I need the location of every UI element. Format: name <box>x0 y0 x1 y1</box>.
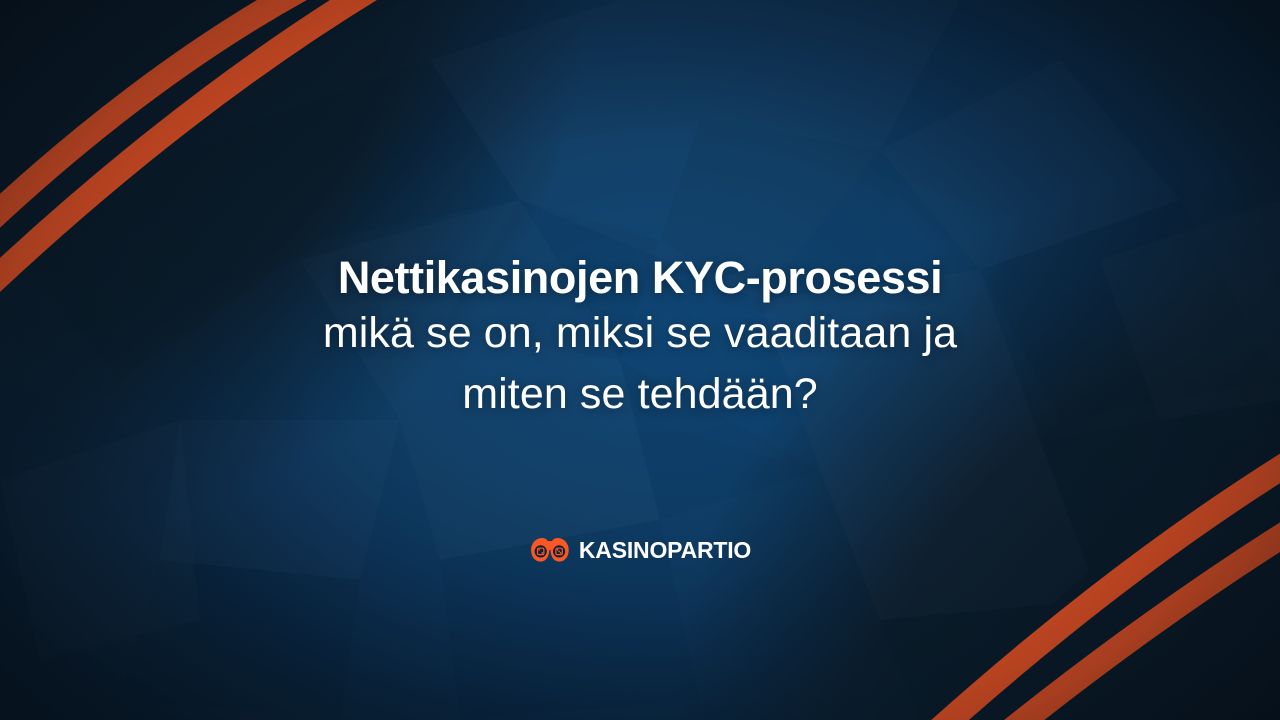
hero-banner: Nettikasinojen KYC-prosessi mikä se on, … <box>0 0 1280 720</box>
binoculars-icon <box>529 536 571 564</box>
banner-content: Nettikasinojen KYC-prosessi mikä se on, … <box>0 0 1280 720</box>
title-line-3: miten se tehdään? <box>200 373 1080 416</box>
page-title: Nettikasinojen KYC-prosessi mikä se on, … <box>200 255 1080 416</box>
title-line-1: Nettikasinojen KYC-prosessi <box>200 255 1080 300</box>
brand-logo[interactable]: KASINOPARTIO <box>529 536 751 564</box>
logo-wordmark: KASINOPARTIO <box>579 539 751 562</box>
title-line-2: mikä se on, miksi se vaaditaan ja <box>200 312 1080 355</box>
